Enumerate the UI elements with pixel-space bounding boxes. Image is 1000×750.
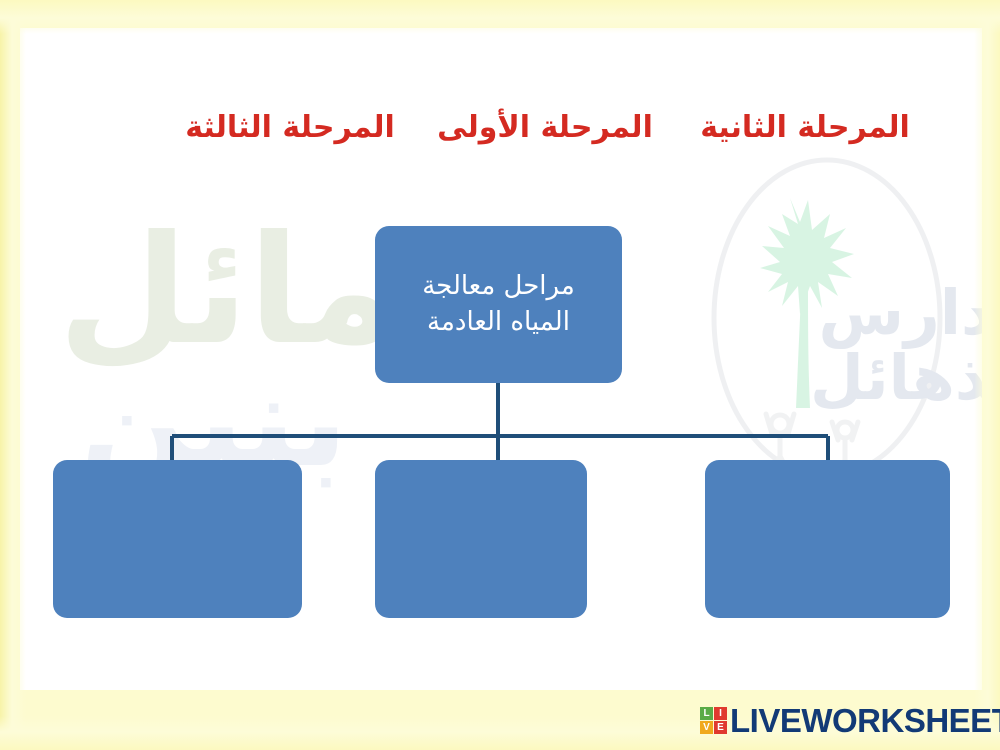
worksheet-canvas: الخمائل بنين مدارس الذهائل [20, 28, 982, 690]
liveworksheets-logo[interactable]: L I V E LIVEWORKSHEETS [700, 704, 1000, 737]
diagram-root-box: مراحل معالجة المياه العادمة [375, 226, 622, 383]
stage-label-first: المرحلة الأولى [435, 110, 655, 145]
diagram-answer-box-middle[interactable] [375, 460, 587, 618]
palm-tree-crest-icon [706, 156, 948, 486]
worksheet-slide: الخمائل بنين مدارس الذهائل [0, 0, 1000, 750]
diagram-answer-label-right [705, 460, 950, 461]
diagram-answer-box-left[interactable] [53, 460, 302, 618]
logo-letter-l: L [700, 707, 713, 720]
logo-letter-i: I [714, 707, 727, 720]
liveworksheets-wordmark: LIVEWORKSHEETS [730, 704, 1000, 737]
diagram-answer-box-right[interactable] [705, 460, 950, 618]
diagram-answer-label-left [53, 460, 302, 461]
stage-label-second: المرحلة الثانية [690, 110, 920, 145]
stage-label-third: المرحلة الثالثة [180, 110, 400, 145]
liveworksheets-logo-blocks: L I V E [700, 707, 727, 734]
logo-letter-e: E [714, 721, 727, 734]
logo-letter-v: V [700, 721, 713, 734]
diagram-answer-label-middle [375, 460, 587, 461]
diagram-root-label: مراحل معالجة المياه العادمة [408, 269, 589, 339]
watermark-crest-label: مدارس الذهائل [810, 280, 982, 410]
